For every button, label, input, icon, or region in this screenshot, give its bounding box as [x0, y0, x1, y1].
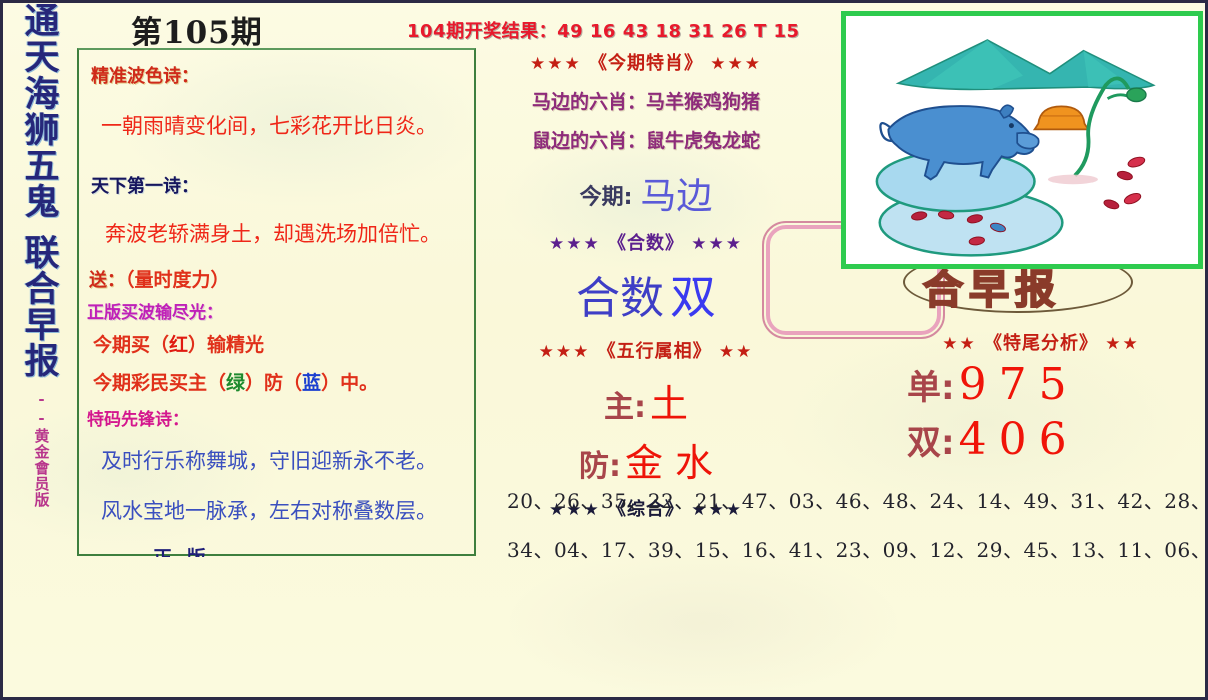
- sum-result-row: 合数双: [481, 261, 811, 327]
- poem-panel: 精准波色诗： 一朝雨晴变化间，七彩花开比日炎。 天下第一诗： 奔波老轿满身土，却…: [77, 48, 476, 556]
- pioneer-poem-label: 特码先锋诗：: [87, 405, 189, 430]
- rat-side-label: 鼠边的六肖：: [532, 130, 646, 152]
- masthead-vertical-title: 通 天 海 狮 五 鬼 联 合 早 报 --黄金會员版: [11, 5, 73, 605]
- number-list-block: 20、26、35、22、21、47、03、46、48、24、14、49、31、4…: [507, 485, 1197, 583]
- guard-element-value: 金 水: [625, 441, 713, 485]
- bottom-clipped-text: 正 版: [153, 543, 210, 557]
- guard-element-row: 防:金 水: [481, 432, 811, 487]
- horse-side-row: 马边的六肖：马羊猴鸡狗猪: [481, 87, 811, 114]
- number-row-2: 34、04、17、39、15、16、41、23、09、12、29、45、13、1…: [507, 534, 1197, 563]
- masthead-subtitle: --黄金會员版: [32, 390, 53, 508]
- masthead-char-5: 鬼: [24, 186, 59, 219]
- zodiac-stars-left: ★★★: [530, 54, 582, 74]
- gift-value: （量时度力）: [125, 269, 230, 291]
- buy-line-2: 今期彩民买主（绿）防（蓝）中。: [93, 368, 378, 395]
- issue-title: 第105期: [131, 7, 263, 52]
- even-label: 双:: [907, 423, 955, 463]
- gift-label: 送：: [89, 270, 125, 291]
- wuxing-section-title: 《五行属相》: [598, 341, 712, 362]
- wuxing-section-header: ★★★ 《五行属相》 ★★: [481, 337, 811, 363]
- buy-line-1-post: ）输精光: [188, 334, 264, 356]
- masthead-char-1: 天: [24, 41, 59, 74]
- official-wave-label: 正版买波输尽光：: [87, 298, 223, 323]
- tail-stars-left: ★★: [942, 334, 976, 354]
- horse-side-value: 马羊猴鸡狗猪: [646, 91, 760, 113]
- plant-leaf: [1127, 88, 1146, 101]
- wuxing-stars-left: ★★★: [539, 342, 591, 362]
- current-issue-value: 马边: [640, 176, 712, 217]
- middle-column: ★★★ 《今期特肖》 ★★★ 马边的六肖：马羊猴鸡狗猪 鼠边的六肖：鼠牛虎兔龙蛇…: [481, 49, 811, 521]
- zodiac-stars-right: ★★★: [710, 54, 762, 74]
- masthead-char-2: 海: [24, 78, 59, 111]
- boar-watercolor-illustration: [846, 16, 1198, 264]
- sum-label: 合数: [576, 273, 664, 324]
- current-issue-label: 今期:: [580, 185, 633, 210]
- boar-eye: [1009, 123, 1014, 128]
- sum-section-title: 《合数》: [608, 233, 684, 254]
- wave-poem-label: 精准波色诗：: [91, 62, 199, 88]
- even-row: 双:406: [891, 414, 1191, 465]
- buy-line-2-color-green: 绿: [226, 372, 245, 394]
- illustration-panel: [841, 11, 1203, 269]
- wuxing-stars-right: ★★: [719, 342, 753, 362]
- tail-section-title: 《特尾分析》: [984, 333, 1098, 354]
- buy-line-2-color-blue: 蓝: [302, 372, 321, 394]
- rat-side-row: 鼠边的六肖：鼠牛虎兔龙蛇: [481, 126, 811, 153]
- buy-line-1-pre: 今期买（: [93, 334, 169, 356]
- pioneer-poem-line-2: 风水宝地一脉承，左右对称叠数层。: [101, 495, 437, 525]
- tail-stars-right: ★★: [1105, 334, 1139, 354]
- right-column: ★★ 《特尾分析》 ★★ 单:975 双:406: [891, 329, 1191, 465]
- top-poem-text: 奔波老轿满身土，却遇洗场加倍忙。: [105, 218, 441, 248]
- gift-row: 送：（量时度力）: [89, 265, 230, 292]
- pioneer-poem-line-1: 及时行乐称舞城，守旧迎新永不老。: [101, 445, 437, 475]
- current-issue-pick-row: 今期:马边: [481, 167, 811, 219]
- sum-stars-right: ★★★: [691, 234, 743, 254]
- odd-label: 单:: [907, 368, 955, 408]
- stem-shadow: [1048, 175, 1098, 185]
- masthead-char-0: 通: [24, 5, 59, 38]
- main-element-label: 主:: [604, 390, 646, 425]
- main-element-value: 土: [650, 382, 688, 426]
- masthead-char-8: 早: [24, 309, 59, 342]
- sum-section-header: ★★★ 《合数》 ★★★: [481, 229, 811, 255]
- tail-section-header: ★★ 《特尾分析》 ★★: [891, 329, 1191, 355]
- zodiac-section-header: ★★★ 《今期特肖》 ★★★: [481, 49, 811, 75]
- buy-line-2-pre: 今期彩民买主（: [93, 372, 226, 394]
- number-row-1: 20、26、35、22、21、47、03、46、48、24、14、49、31、4…: [507, 485, 1197, 514]
- newspaper-page: 通 天 海 狮 五 鬼 联 合 早 报 --黄金會员版 第105期 104期开奖…: [0, 0, 1208, 700]
- guard-element-label: 防:: [579, 449, 621, 484]
- sum-stars-left: ★★★: [549, 234, 601, 254]
- odd-row: 单:975: [891, 359, 1191, 410]
- buy-line-1: 今期买（红）输精光: [93, 330, 264, 357]
- odd-digits: 975: [959, 359, 1079, 410]
- masthead-char-4: 五: [24, 150, 59, 183]
- draw-result-banner: 104期开奖结果：49 16 43 18 31 26 T 15: [407, 17, 800, 43]
- masthead-char-9: 报: [24, 345, 59, 378]
- sum-value: 双: [670, 270, 716, 324]
- top-poem-label: 天下第一诗：: [91, 172, 199, 198]
- rat-side-value: 鼠牛虎兔龙蛇: [646, 130, 760, 152]
- buy-line-2-post: ）中。: [321, 372, 378, 394]
- wave-poem-text: 一朝雨晴变化间，七彩花开比日炎。: [101, 110, 437, 140]
- masthead-char-7: 合: [24, 273, 59, 306]
- buy-line-1-color: 红: [169, 334, 188, 356]
- zodiac-section-title: 《今期特肖》: [589, 53, 703, 74]
- masthead-char-3: 狮: [24, 114, 59, 147]
- masthead-char-6: 联: [24, 237, 59, 270]
- horse-side-label: 马边的六肖：: [532, 91, 646, 113]
- boar-snout: [1017, 133, 1038, 149]
- even-digits: 406: [959, 414, 1079, 465]
- buy-line-2-mid: ）防（: [245, 372, 302, 394]
- main-element-row: 主:土: [481, 373, 811, 428]
